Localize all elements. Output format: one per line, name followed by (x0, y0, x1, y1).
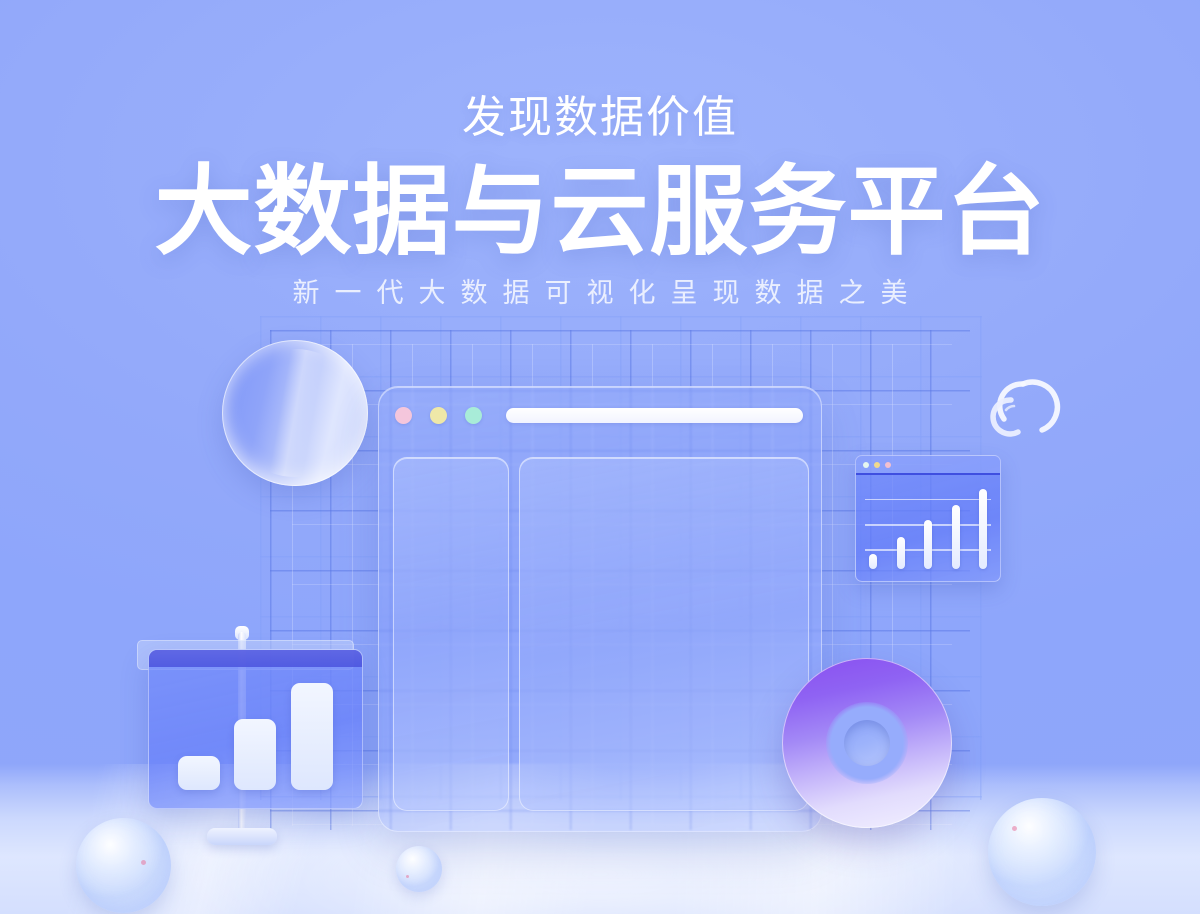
minimize-dot-icon[interactable] (430, 407, 447, 424)
browser-window[interactable] (378, 386, 822, 832)
sidebar-pane[interactable] (393, 457, 509, 811)
cloud-icon (978, 362, 1068, 440)
sphere-left (76, 818, 171, 913)
glass-disc-rim (222, 340, 368, 486)
bar-C (291, 683, 333, 790)
mini-chart-titlebar (856, 456, 1000, 475)
card-chart-bars (171, 678, 340, 790)
address-bar-input[interactable] (506, 408, 803, 423)
bar-B (234, 719, 276, 790)
bar-2 (897, 537, 905, 569)
mini-dot-2-icon[interactable] (874, 462, 880, 468)
bar-3 (924, 520, 932, 569)
bar-4 (952, 505, 960, 569)
close-dot-icon[interactable] (395, 407, 412, 424)
browser-titlebar (379, 387, 821, 443)
bar-1 (869, 554, 877, 569)
mini-chart-bars (869, 479, 987, 569)
mini-chart-window[interactable] (855, 455, 1001, 582)
maximize-dot-icon[interactable] (465, 407, 482, 424)
page-title: 大数据与云服务平台 (0, 140, 1200, 262)
mini-chart-plot (865, 479, 991, 569)
hero-eyebrow: 发现数据价值 (0, 0, 1200, 140)
content-pane[interactable] (519, 457, 809, 811)
hero-text-block: 发现数据价值 大数据与云服务平台 新一代大数据可视化呈现数据之美 (0, 0, 1200, 307)
donut-ring-rim (782, 658, 952, 828)
card-header-band (149, 650, 362, 667)
sphere-right (988, 798, 1096, 906)
hero-banner: 发现数据价值 大数据与云服务平台 新一代大数据可视化呈现数据之美 (0, 0, 1200, 914)
bar-chart-card[interactable] (148, 649, 363, 809)
sphere-center (396, 846, 442, 892)
stand-base (207, 828, 277, 845)
bar-A (178, 756, 220, 790)
bar-5 (979, 489, 987, 569)
mini-dot-3-icon[interactable] (885, 462, 891, 468)
hero-subtitle: 新一代大数据可视化呈现数据之美 (0, 262, 1200, 307)
mini-dot-1-icon[interactable] (863, 462, 869, 468)
